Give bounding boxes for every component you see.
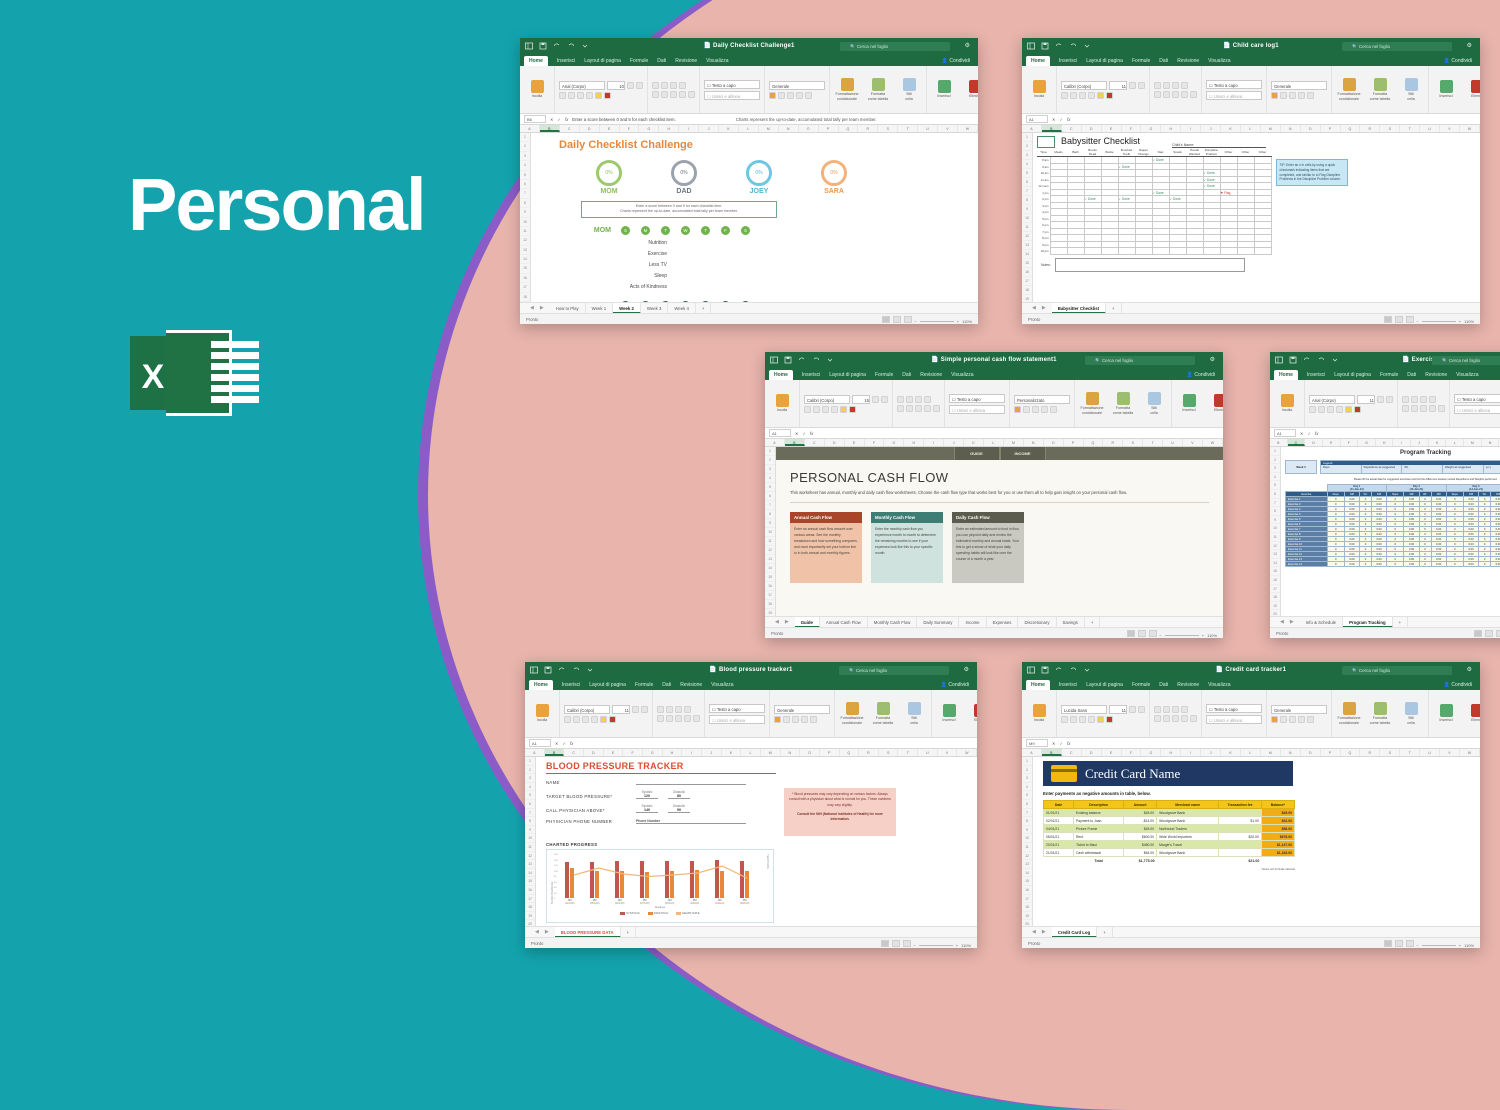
ribbon-tab-inserisci[interactable]: Inserisci (1059, 682, 1077, 688)
wrap-text-button[interactable]: ☐ Testo a capo (1206, 704, 1262, 713)
ribbon-tabs[interactable]: HomeInserisciLayout di paginaFormuleDati… (520, 55, 978, 66)
settings-icon[interactable]: ⚙ (1467, 42, 1472, 49)
percent-icon[interactable] (1280, 716, 1287, 723)
indent-increase-icon[interactable] (693, 715, 700, 722)
borders-icon[interactable] (1088, 92, 1095, 99)
tab-nav-next-icon[interactable]: ▶ (545, 929, 549, 935)
increase-decimal-icon[interactable] (1298, 92, 1305, 99)
bold-icon[interactable] (564, 716, 571, 723)
sys-value[interactable]: 120 (636, 794, 658, 799)
view-normal-icon[interactable] (1474, 630, 1482, 637)
column-header-A[interactable]: A (520, 125, 540, 132)
column-header-H[interactable]: H (1161, 125, 1181, 132)
comma-icon[interactable] (1032, 406, 1039, 413)
ribbon-tab-visualizza[interactable]: Visualizza (1208, 682, 1230, 688)
font-name-select[interactable]: Arial (Corpo) (559, 81, 605, 90)
ribbon-tab-home[interactable]: Home (1026, 56, 1050, 66)
function-icon[interactable]: fx (1067, 741, 1070, 746)
conditional-formatting-button[interactable]: Formattazionecondizionale (839, 702, 865, 724)
checklist-row[interactable]: Sleep (559, 271, 667, 282)
column-header-A[interactable]: A (525, 749, 545, 756)
cell-styles-button[interactable]: Stilicella (1398, 702, 1424, 724)
confirm-icon[interactable]: ✓ (1060, 117, 1064, 122)
underline-icon[interactable] (582, 716, 589, 723)
ribbon-tab-inserisci[interactable]: Inserisci (557, 58, 575, 64)
paste-button[interactable]: Incolla (1274, 394, 1300, 412)
cell-merchant[interactable]: Woodgrove Bank (1157, 817, 1219, 825)
column-header-S[interactable]: S (1380, 125, 1400, 132)
nav-button-income[interactable]: INCOME (1000, 447, 1046, 460)
borders-icon[interactable] (831, 406, 838, 413)
checklist-cell[interactable] (1220, 248, 1237, 255)
ribbon-group-clipboard[interactable]: Incolla (525, 690, 560, 737)
formula-bar[interactable]: A1 ✕ ✓ fx (1022, 114, 1480, 125)
currency-icon[interactable] (1014, 406, 1021, 413)
member-card-sara[interactable]: 0% SARA (808, 160, 860, 195)
column-header-I[interactable]: I (1181, 749, 1201, 756)
column-header-I[interactable]: I (1393, 439, 1411, 446)
comma-icon[interactable] (1289, 92, 1296, 99)
align-bottom-icon[interactable] (1172, 706, 1179, 713)
name-box[interactable]: A1 (1026, 115, 1048, 123)
delete-button[interactable]: Elimina (1464, 80, 1480, 98)
column-header-F[interactable]: F (620, 125, 640, 132)
ribbon-group-cells[interactable]: Inserisci Elimina Formato (1172, 380, 1223, 427)
cell-merchant[interactable]: Margie's Travel (1157, 841, 1219, 849)
cell-balance[interactable]: $58.00 (1261, 825, 1294, 833)
cell-fee[interactable] (1219, 841, 1262, 849)
align-bottom-icon[interactable] (1420, 396, 1427, 403)
format-as-table-button[interactable]: Formattacome tabella (1367, 78, 1393, 100)
ribbon-tab-formule[interactable]: Formule (1132, 682, 1150, 688)
number-format-select[interactable]: Generale (1271, 81, 1327, 90)
align-left-icon[interactable] (1154, 91, 1161, 98)
sheet-tab--[interactable]: + (1393, 617, 1409, 628)
column-header-V[interactable]: V (1183, 439, 1203, 446)
bp-field[interactable]: NAME (546, 780, 774, 785)
ribbon-tab-dati[interactable]: Dati (657, 58, 666, 64)
column-header-C[interactable]: C (1288, 439, 1306, 446)
align-middle-icon[interactable] (1411, 396, 1418, 403)
column-header-D[interactable]: D (1082, 125, 1102, 132)
merge-center-button[interactable]: ☐ Unisci e allinea (949, 405, 1005, 414)
increase-font-icon[interactable] (1377, 396, 1384, 403)
column-header-V[interactable]: V (1440, 125, 1460, 132)
cell-amount[interactable]: -$14.00 (1124, 817, 1157, 825)
cell-description[interactable]: Existing balance (1073, 809, 1123, 817)
view-normal-icon[interactable] (882, 316, 890, 323)
ribbon-tab-home[interactable]: Home (1274, 370, 1298, 380)
window-blood-pressure[interactable]: 📄 Blood pressure tracker1 🔍 Cerca nel fo… (525, 662, 977, 948)
title-bar[interactable]: 📄 Credit card tracker1 🔍 Cerca nel fogli… (1022, 662, 1480, 679)
checklist-cell[interactable] (1152, 248, 1169, 255)
ribbon-group-alignment[interactable] (1150, 66, 1202, 113)
view-pagebreak-icon[interactable] (903, 940, 911, 947)
ribbon[interactable]: Incolla Lucida Sans 11 (1022, 690, 1480, 738)
column-header-P[interactable]: P (1321, 125, 1341, 132)
column-header-S[interactable]: S (879, 749, 899, 756)
decrease-decimal-icon[interactable] (1307, 92, 1314, 99)
tab-nav-prev-icon[interactable]: ◀ (775, 619, 779, 625)
sheet-content[interactable]: GUIDEINCOME PERSONAL CASH FLOW This work… (776, 447, 1223, 638)
ribbon-group-wrap[interactable]: ☐ Testo a capo ☐ Unisci e allinea (700, 66, 765, 113)
ribbon-group-font[interactable]: Arial (Corpo) 11 (1305, 380, 1398, 427)
reps-diff-cell[interactable]: 0.00 (1404, 562, 1419, 567)
function-icon[interactable]: fx (1067, 117, 1070, 122)
cancel-icon[interactable]: ✕ (555, 741, 559, 746)
cell-styles-button[interactable]: Stilicella (901, 702, 927, 724)
checklist-cell[interactable] (1118, 248, 1135, 255)
sheet-tab-info-schedule[interactable]: Info & Schedule (1300, 617, 1343, 628)
currency-icon[interactable] (1271, 92, 1278, 99)
align-right-icon[interactable] (1420, 405, 1427, 412)
ribbon-group-clipboard[interactable]: Incolla (1022, 66, 1057, 113)
align-right-icon[interactable] (1172, 91, 1179, 98)
column-headers[interactable]: ABCDEFGHIJKLMNOPQRSTUVW (1022, 749, 1480, 757)
name-box[interactable]: M9 (1026, 739, 1048, 747)
cell-description[interactable]: Cash withdrawal (1073, 849, 1123, 857)
column-header-N[interactable]: N (779, 125, 799, 132)
cell-balance[interactable]: $1,183.00 (1261, 849, 1294, 857)
ribbon-tab-inserisci[interactable]: Inserisci (562, 682, 580, 688)
ribbon-tab-dati[interactable]: Dati (1407, 372, 1416, 378)
indent-decrease-icon[interactable] (924, 405, 931, 412)
cell-styles-button[interactable]: Stilicella (1141, 392, 1167, 414)
sheet-tab-blood-pressure-data[interactable]: BLOOD PRESSURE DATA (555, 927, 621, 938)
ribbon-group-number[interactable]: Personalizzato (1010, 380, 1075, 427)
increase-decimal-icon[interactable] (1041, 406, 1048, 413)
column-header-M[interactable]: M (1464, 439, 1482, 446)
search-input[interactable]: 🔍 Cerca nel foglio (1432, 356, 1500, 365)
increase-font-icon[interactable] (872, 396, 879, 403)
cell-description[interactable]: Payment to Joan (1073, 817, 1123, 825)
checklist-row[interactable]: Less TV (559, 260, 667, 271)
column-header-T[interactable]: T (1143, 439, 1163, 446)
ribbon-group-font[interactable]: Calibri (Corpo) 16 (800, 380, 893, 427)
sheet-tab-savings[interactable]: Savings (1057, 617, 1085, 628)
column-header-O[interactable]: O (1301, 125, 1321, 132)
sheet-tab-bar[interactable]: ◀ ▶ Info & ScheduleProgram Tracking+ (1270, 616, 1500, 627)
view-layout-icon[interactable] (1485, 630, 1493, 637)
italic-icon[interactable] (1070, 716, 1077, 723)
decrease-font-icon[interactable] (636, 82, 643, 89)
column-header-S[interactable]: S (878, 125, 898, 132)
merge-center-button[interactable]: ☐ Unisci e allinea (1454, 405, 1500, 414)
sheet-tab-bar[interactable]: ◀ ▶ GuideAnnual Cash FlowMonthly Cash Fl… (765, 616, 1223, 627)
sheet-tab-program-tracking[interactable]: Program Tracking (1343, 617, 1393, 628)
sheet-tab-expenses[interactable]: Expenses (987, 617, 1019, 628)
column-header-E[interactable]: E (600, 125, 620, 132)
title-bar[interactable]: 📄 Exercise 🔍 Cerca nel foglio ⚙ (1270, 352, 1500, 369)
number-format-select[interactable]: Generale (769, 81, 825, 90)
insert-button[interactable]: Inserisci (1433, 704, 1459, 722)
column-header-F[interactable]: F (865, 439, 885, 446)
sheet-tab-bar[interactable]: ◀ ▶ BLOOD PRESSURE DATA+ (525, 926, 977, 937)
borders-icon[interactable] (586, 92, 593, 99)
sheet-content[interactable]: Program Tracking Week # Legend RepsRepet… (1281, 447, 1500, 638)
column-header-T[interactable]: T (898, 125, 918, 132)
cell-balance[interactable]: $32.00 (1261, 817, 1294, 825)
merge-center-button[interactable]: ☐ Unisci e allinea (1206, 715, 1262, 724)
sheet-tab-annual-cash-flow[interactable]: Annual Cash Flow (820, 617, 868, 628)
column-headers[interactable]: ABCDEFGHIJKLMNOPQRSTUVW (525, 749, 977, 757)
paste-button[interactable]: Incolla (524, 80, 550, 98)
conditional-formatting-button[interactable]: Formattazionecondizionale (834, 78, 860, 100)
underline-icon[interactable] (577, 92, 584, 99)
ribbon-group-cells[interactable]: Inserisci Elimina Formato (927, 66, 978, 113)
cell-balance[interactable]: $1,147.00 (1261, 841, 1294, 849)
font-size-select[interactable]: 11 (1357, 395, 1375, 404)
cancel-icon[interactable]: ✕ (1300, 431, 1304, 436)
ribbon[interactable]: Incolla Calibri (Corpo) 16 (765, 380, 1223, 428)
align-left-icon[interactable] (897, 405, 904, 412)
fill-color-icon[interactable] (1097, 92, 1104, 99)
program-tracking-table[interactable]: Day 1(11-Jan-21)Day 2(12-Jan-21)Day 3(13… (1285, 484, 1500, 567)
indent-decrease-icon[interactable] (1181, 91, 1188, 98)
ribbon[interactable]: Incolla Arial (Corpo) 11 (1270, 380, 1500, 428)
bp-chart[interactable]: BLOOD PRESSURE 160140120100806040200 AM … (546, 849, 774, 923)
column-header-Q[interactable]: Q (839, 125, 859, 132)
comma-icon[interactable] (1289, 716, 1296, 723)
ribbon-tabs[interactable]: HomeInserisciLayout di paginaFormuleDati… (525, 679, 977, 690)
formula-bar[interactable]: M9 ✕ ✓ fx (1022, 738, 1480, 749)
ribbon-tabs[interactable]: HomeInserisciLayout di paginaFormuleDati… (1022, 55, 1480, 66)
column-header-J[interactable]: J (1411, 439, 1429, 446)
view-layout-icon[interactable] (893, 316, 901, 323)
column-header-Q[interactable]: Q (840, 749, 860, 756)
delete-button[interactable]: Elimina (1464, 704, 1480, 722)
sheet-grid[interactable]: 1234567891011121314151617181920212223 Cr… (1022, 757, 1480, 948)
column-header-K[interactable]: K (719, 125, 739, 132)
ribbon-tab-revisione[interactable]: Revisione (675, 58, 697, 64)
view-normal-icon[interactable] (1384, 316, 1392, 323)
column-header-B[interactable]: B (1270, 439, 1288, 446)
cell-amount[interactable]: $45.00 (1124, 825, 1157, 833)
column-header-O[interactable]: O (1301, 749, 1321, 756)
indent-increase-icon[interactable] (688, 91, 695, 98)
column-header-W[interactable]: W (957, 749, 977, 756)
bold-icon[interactable] (1061, 716, 1068, 723)
column-header-D[interactable]: D (825, 439, 845, 446)
name-box[interactable]: A1 (769, 429, 791, 437)
wrap-text-button[interactable]: ☐ Testo a capo (949, 394, 1005, 403)
view-mode-buttons[interactable] (1384, 316, 1414, 323)
title-bar[interactable]: 📄 Daily Checklist Challenge1 🔍 Cerca nel… (520, 38, 978, 55)
view-pagebreak-icon[interactable] (1149, 630, 1157, 637)
column-header-R[interactable]: R (1360, 749, 1380, 756)
delete-button[interactable]: Elimina (967, 704, 977, 722)
ribbon-tab-revisione[interactable]: Revisione (1177, 682, 1199, 688)
percent-icon[interactable] (783, 716, 790, 723)
align-center-icon[interactable] (661, 91, 668, 98)
member-card-dad[interactable]: 0% DAD (658, 160, 710, 195)
align-middle-icon[interactable] (906, 396, 913, 403)
bold-icon[interactable] (804, 406, 811, 413)
fill-color-icon[interactable] (840, 406, 847, 413)
cell-balance[interactable]: $678.00 (1261, 833, 1294, 841)
name-box[interactable]: A1 (1274, 429, 1296, 437)
orientation-icon[interactable] (684, 706, 691, 713)
decrease-font-icon[interactable] (1138, 82, 1145, 89)
align-center-icon[interactable] (1163, 715, 1170, 722)
decrease-decimal-icon[interactable] (1050, 406, 1057, 413)
formula-bar[interactable]: B6 ✕ ✓ fx Enter a score between 0 and 5 … (520, 114, 978, 125)
column-header-D[interactable]: D (1082, 749, 1102, 756)
settings-icon[interactable]: ⚙ (1210, 356, 1215, 363)
column-header-S[interactable]: S (1380, 749, 1400, 756)
increase-decimal-icon[interactable] (801, 716, 808, 723)
view-normal-icon[interactable] (1384, 940, 1392, 947)
ribbon-group-wrap[interactable]: ☐ Testo a capo ☐ Unisci e allinea (705, 690, 770, 737)
cashflow-card-monthly-cash-flow[interactable]: Monthly Cash Flow Enter the monthly cash… (871, 512, 943, 583)
sheet-tab-week-3[interactable]: Week 3 (641, 303, 669, 314)
confirm-icon[interactable]: ✓ (1060, 741, 1064, 746)
format-as-table-button[interactable]: Formattacome tabella (870, 702, 896, 724)
ribbon-tab-layout-di-pagina[interactable]: Layout di pagina (1086, 58, 1123, 64)
column-header-W[interactable]: W (1203, 439, 1223, 446)
ribbon-tab-layout-di-pagina[interactable]: Layout di pagina (589, 682, 626, 688)
sheet-tab-income[interactable]: Income (959, 617, 986, 628)
table-row[interactable]: 04/01/21 Picture Frame $45.00 Northwind … (1044, 825, 1295, 833)
formula-content[interactable]: Enter a score between 0 and 5 for each c… (572, 117, 675, 122)
wrap-text-button[interactable]: ☐ Testo a capo (1454, 394, 1500, 403)
ribbon-group-clipboard[interactable]: Incolla (765, 380, 800, 427)
column-header-C[interactable]: C (1062, 749, 1082, 756)
column-header-Q[interactable]: Q (1084, 439, 1104, 446)
underline-icon[interactable] (1327, 406, 1334, 413)
cell-date[interactable]: 05/01/21 (1044, 833, 1074, 841)
column-header-A[interactable]: A (765, 439, 785, 446)
conditional-formatting-button[interactable]: Formattazionecondizionale (1336, 702, 1362, 724)
align-center-icon[interactable] (1411, 405, 1418, 412)
sheet-content[interactable]: Babysitter Checklist Child's Name: TimeM… (1033, 133, 1480, 324)
column-header-N[interactable]: N (1281, 125, 1301, 132)
align-right-icon[interactable] (675, 715, 682, 722)
ribbon-tab-layout-di-pagina[interactable]: Layout di pagina (584, 58, 621, 64)
window-daily-checklist[interactable]: 📄 Daily Checklist Challenge1 🔍 Cerca nel… (520, 38, 978, 324)
view-normal-icon[interactable] (1127, 630, 1135, 637)
cell-fee[interactable]: $20.00 (1219, 833, 1262, 841)
dia-value[interactable]: 90 (668, 808, 690, 813)
column-header-K[interactable]: K (1221, 125, 1241, 132)
column-header-B[interactable]: B (1042, 749, 1062, 756)
share-button[interactable]: 👤 Condividi (1444, 58, 1472, 64)
align-right-icon[interactable] (1172, 715, 1179, 722)
ribbon-group-wrap[interactable]: ☐ Testo a capo ☐ Unisci e allinea (1202, 66, 1267, 113)
ribbon-tab-revisione[interactable]: Revisione (1425, 372, 1447, 378)
cell-amount[interactable]: $480.00 (1124, 841, 1157, 849)
tab-nav-next-icon[interactable]: ▶ (785, 619, 789, 625)
search-input[interactable]: 🔍 Cerca nel foglio (839, 666, 949, 675)
column-header-P[interactable]: P (820, 749, 840, 756)
member-card-mom[interactable]: 0% MOM (583, 160, 635, 195)
font-color-icon[interactable] (604, 92, 611, 99)
sheet-tab-how-to-play[interactable]: How to Play (550, 303, 586, 314)
column-header-U[interactable]: U (918, 749, 938, 756)
number-format-select[interactable]: Personalizzato (1014, 395, 1070, 404)
checklist-cell[interactable] (1101, 248, 1118, 255)
currency-icon[interactable] (1271, 716, 1278, 723)
bp-field[interactable]: CALL PHYSICIAN ABOVE* Systolic140 Diasto… (546, 804, 774, 813)
indent-increase-icon[interactable] (1438, 405, 1445, 412)
fill-color-icon[interactable] (595, 92, 602, 99)
row-headers[interactable]: 123456789101112131415161718192021 (520, 133, 531, 324)
italic-icon[interactable] (1070, 92, 1077, 99)
cashflow-card-annual-cash-flow[interactable]: Annual Cash Flow Enter an annual cash fl… (790, 512, 862, 583)
checklist-cell[interactable] (1067, 248, 1084, 255)
borders-icon[interactable] (1088, 716, 1095, 723)
sheet-content[interactable]: Daily Checklist Challenge 0% MOM 0% DAD … (531, 133, 978, 324)
cancel-icon[interactable]: ✕ (550, 117, 554, 122)
column-header-G[interactable]: G (1141, 749, 1161, 756)
ribbon-group-number[interactable]: Generale (765, 66, 830, 113)
font-size-select[interactable]: 11 (1109, 81, 1127, 90)
column-header-S[interactable]: S (1123, 439, 1143, 446)
ribbon-group-alignment[interactable] (1398, 380, 1450, 427)
ribbon-tab-formule[interactable]: Formule (630, 58, 648, 64)
ribbon-group-wrap[interactable]: ☐ Testo a capo ☐ Unisci e allinea (1202, 690, 1267, 737)
ribbon-group-styles[interactable]: Formattazionecondizionale Formattacome t… (1332, 690, 1429, 737)
share-button[interactable]: 👤 Condividi (942, 58, 970, 64)
view-pagebreak-icon[interactable] (1496, 630, 1500, 637)
title-bar[interactable]: 📄 Child care log1 🔍 Cerca nel foglio ⚙ (1022, 38, 1480, 55)
sheet-tab-bar[interactable]: ◀ ▶ Credit Card Log+ (1022, 926, 1480, 937)
column-header-R[interactable]: R (858, 125, 878, 132)
checklist-cell[interactable] (1186, 248, 1203, 255)
align-top-icon[interactable] (652, 82, 659, 89)
cell-date[interactable]: 04/01/21 (1044, 825, 1074, 833)
reps-cell[interactable]: 0 (1387, 562, 1404, 567)
align-middle-icon[interactable] (661, 82, 668, 89)
column-header-R[interactable]: R (1360, 125, 1380, 132)
cell-styles-button[interactable]: Stilicella (1398, 78, 1424, 100)
ribbon-tab-home[interactable]: Home (769, 370, 793, 380)
exercise-name[interactable]: Exercise 14 (1286, 562, 1328, 567)
sheet-tab--[interactable]: + (1085, 617, 1101, 628)
confirm-icon[interactable]: ✓ (803, 431, 807, 436)
bp-field[interactable]: TARGET BLOOD PRESSURE* Systolic120 Diast… (546, 790, 774, 799)
window-program-tracking[interactable]: 📄 Exercise 🔍 Cerca nel foglio ⚙ HomeInse… (1270, 352, 1500, 638)
italic-icon[interactable] (568, 92, 575, 99)
align-top-icon[interactable] (1154, 706, 1161, 713)
column-headers[interactable]: ABCDEFGHIJKLMNOPQRSTUVW (765, 439, 1223, 447)
orientation-icon[interactable] (679, 82, 686, 89)
ribbon-group-font[interactable]: Lucida Sans 11 (1057, 690, 1150, 737)
column-header-B[interactable]: B (540, 125, 560, 132)
checklist-row[interactable]: Exercise (559, 249, 667, 260)
bold-icon[interactable] (559, 92, 566, 99)
column-header-L[interactable]: L (984, 439, 1004, 446)
view-mode-buttons[interactable] (1474, 630, 1500, 637)
column-header-F[interactable]: F (1122, 749, 1142, 756)
column-header-H[interactable]: H (1376, 439, 1394, 446)
column-header-W[interactable]: W (1460, 125, 1480, 132)
column-header-L[interactable]: L (741, 749, 761, 756)
column-header-R[interactable]: R (1103, 439, 1123, 446)
sheet-tab-daily-summary[interactable]: Daily Summary (917, 617, 959, 628)
currency-icon[interactable] (774, 716, 781, 723)
ribbon-group-wrap[interactable]: ☐ Testo a capo ☐ Unisci e allinea (1450, 380, 1500, 427)
insert-button[interactable]: Inserisci (1176, 394, 1202, 412)
font-size-select[interactable]: 10 (607, 81, 625, 90)
increase-font-icon[interactable] (1129, 706, 1136, 713)
column-header-U[interactable]: U (1163, 439, 1183, 446)
column-header-H[interactable]: H (663, 749, 683, 756)
font-name-select[interactable]: Lucida Sans (1061, 705, 1107, 714)
increase-font-icon[interactable] (1129, 82, 1136, 89)
tab-nav-prev-icon[interactable]: ◀ (1032, 305, 1036, 311)
column-header-T[interactable]: T (1400, 749, 1420, 756)
